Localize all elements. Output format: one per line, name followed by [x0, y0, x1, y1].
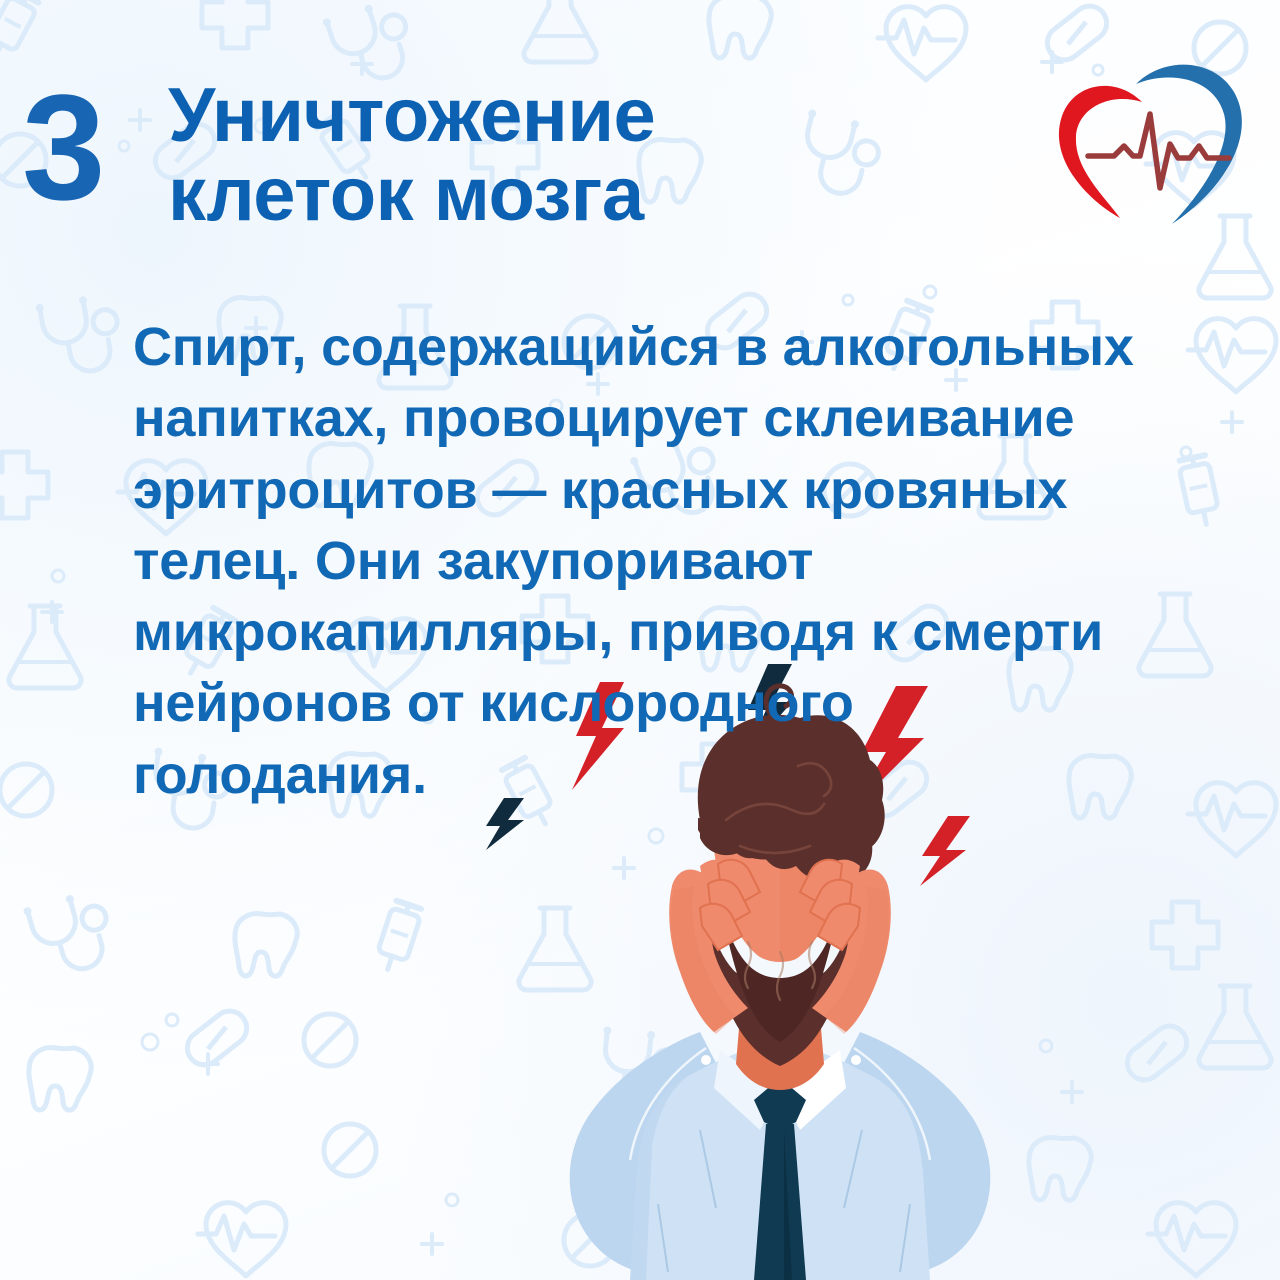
body-line-6: нейронов от кислородного	[133, 668, 1263, 739]
title-line-1: Уничтожение	[168, 76, 1028, 155]
body-line-2: напитках, провоцирует склеивание	[133, 383, 1263, 454]
body-line-5: микрокапилляры, приводя к смерти	[133, 597, 1263, 668]
bolt-far-right-red	[920, 816, 970, 886]
heart-ecg-logo	[1044, 48, 1258, 248]
body-paragraph: Спирт, содержащийся в алкогольных напитк…	[133, 312, 1263, 811]
step-number: 3	[22, 72, 103, 222]
cuff-button-left	[701, 1055, 711, 1065]
title-line-2: клеток мозга	[168, 155, 1028, 234]
tie	[754, 1078, 806, 1280]
page-title: Уничтожение клеток мозга	[168, 76, 1028, 234]
body-line-3: эритроцитов — красных кровяных	[133, 455, 1263, 526]
poster-canvas: 3 Уничтожение клеток мозга Спирт, содерж…	[0, 0, 1280, 1280]
cuff-button-right	[851, 1055, 861, 1065]
body-line-1: Спирт, содержащийся в алкогольных	[133, 312, 1263, 383]
body-line-4: телец. Они закупоривают	[133, 526, 1263, 597]
body-line-7: голодания.	[133, 740, 1263, 811]
